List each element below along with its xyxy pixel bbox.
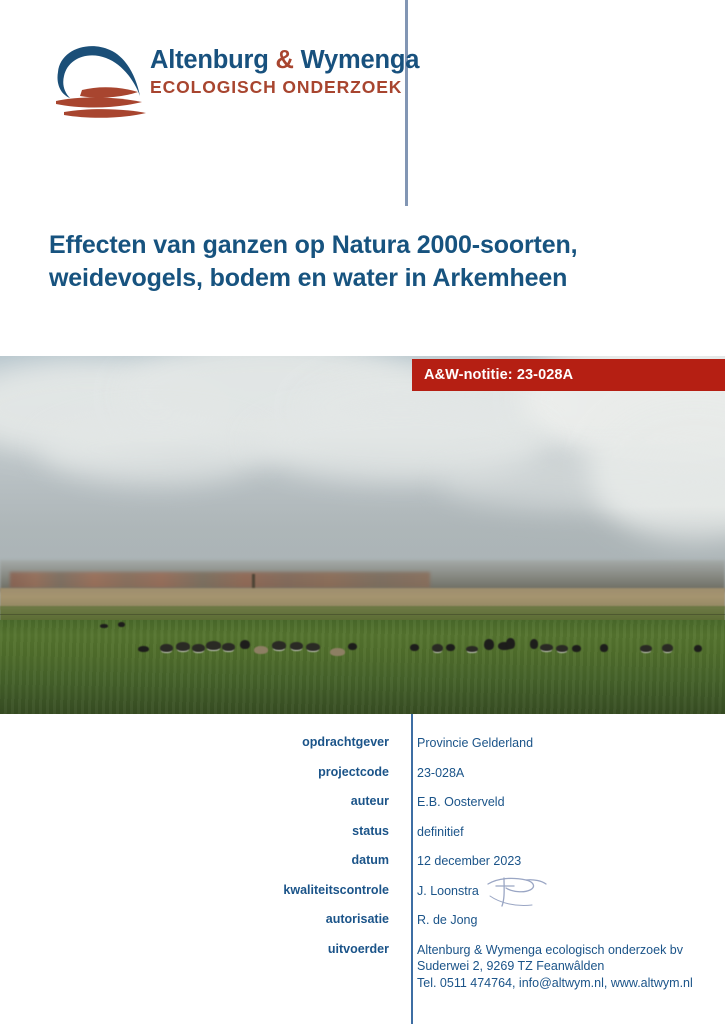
photo-goose [572, 645, 581, 652]
metadata-row: kwaliteitscontroleJ. Loonstra [0, 883, 725, 900]
metadata-value: R. de Jong [405, 912, 477, 929]
photo-goose [176, 642, 190, 651]
photo-goose [640, 645, 652, 652]
photo-goose [330, 648, 345, 656]
metadata-row: projectcode23-028A [0, 765, 725, 782]
logo-name-part2: Wymenga [294, 46, 419, 74]
metadata-row: statusdefinitief [0, 824, 725, 841]
metadata-value: definitief [405, 824, 464, 841]
metadata-label: autorisatie [0, 912, 405, 928]
metadata-label: auteur [0, 794, 405, 810]
photo-goose [290, 642, 303, 650]
metadata-label: uitvoerder [0, 942, 405, 958]
photo-goose [600, 644, 608, 652]
photo-village-rooftops [10, 572, 430, 588]
document-title-line-2: weidevogels, bodem en water in Arkemheen [49, 264, 567, 292]
photo-goose [240, 640, 250, 649]
photo-goose [118, 622, 125, 627]
metadata-value: 23-028A [405, 765, 464, 782]
photo-meadow [0, 620, 725, 714]
photo-goose [192, 644, 205, 652]
photo-goose [662, 644, 673, 652]
notitie-banner-label: A&W-notitie: 23-028A [412, 367, 573, 383]
photo-goose [530, 639, 538, 649]
metadata-row: opdrachtgeverProvincie Gelderland [0, 735, 725, 752]
photo-goose [348, 643, 357, 650]
photo-goose [306, 643, 320, 651]
photo-goose [254, 646, 268, 654]
metadata-value: E.B. Oosterveld [405, 794, 505, 811]
handwritten-signature [482, 874, 552, 912]
metadata-label: projectcode [0, 765, 405, 781]
photo-goose [222, 643, 235, 651]
photo-goose [100, 624, 108, 628]
bird-wing-reeds-logo-mark [50, 38, 150, 126]
metadata-label: datum [0, 853, 405, 869]
photo-goose [506, 638, 515, 649]
metadata-value: Altenburg & Wymenga ecologisch onderzoek… [405, 942, 693, 992]
photo-goose [540, 644, 553, 651]
photo-fence-line [0, 614, 725, 615]
metadata-row: auteurE.B. Oosterveld [0, 794, 725, 811]
notitie-banner: A&W-notitie: 23-028A [412, 359, 725, 391]
metadata-value: Provincie Gelderland [405, 735, 533, 752]
logo-name-part1: Altenburg [150, 46, 276, 74]
metadata-row: datum12 december 2023 [0, 853, 725, 870]
photo-goose [694, 645, 702, 652]
photo-goose [160, 644, 173, 652]
metadata-row: uitvoerderAltenburg & Wymenga ecologisch… [0, 942, 725, 992]
photo-goose [272, 641, 286, 650]
photo-goose [206, 641, 221, 650]
cover-photo [0, 356, 725, 714]
document-title-line-1: Effecten van ganzen op Natura 2000-soort… [49, 231, 577, 259]
document-title: Effecten van ganzen op Natura 2000-soort… [49, 229, 649, 295]
logo-company-name: Altenburg & Wymenga [150, 46, 390, 74]
company-logo: Altenburg & Wymenga ECOLOGISCH ONDERZOEK [50, 38, 390, 126]
metadata-value: J. Loonstra [405, 883, 479, 900]
metadata-label: opdrachtgever [0, 735, 405, 751]
photo-cloud [40, 414, 270, 484]
photo-goose [466, 646, 478, 652]
photo-goose [138, 646, 149, 652]
photo-goose [556, 645, 568, 652]
logo-wordmark: Altenburg & Wymenga ECOLOGISCH ONDERZOEK [150, 46, 390, 97]
header-vertical-divider [405, 0, 408, 206]
photo-goose [484, 639, 494, 650]
metadata-label: kwaliteitscontrole [0, 883, 405, 899]
metadata-table: opdrachtgeverProvincie Gelderlandproject… [0, 735, 725, 1004]
logo-ampersand: & [276, 46, 294, 74]
photo-goose [446, 644, 455, 651]
photo-goose [410, 644, 419, 651]
metadata-row: autorisatieR. de Jong [0, 912, 725, 929]
metadata-label: status [0, 824, 405, 840]
photo-goose [432, 644, 443, 652]
logo-subtitle: ECOLOGISCH ONDERZOEK [150, 78, 390, 97]
metadata-value: 12 december 2023 [405, 853, 521, 870]
